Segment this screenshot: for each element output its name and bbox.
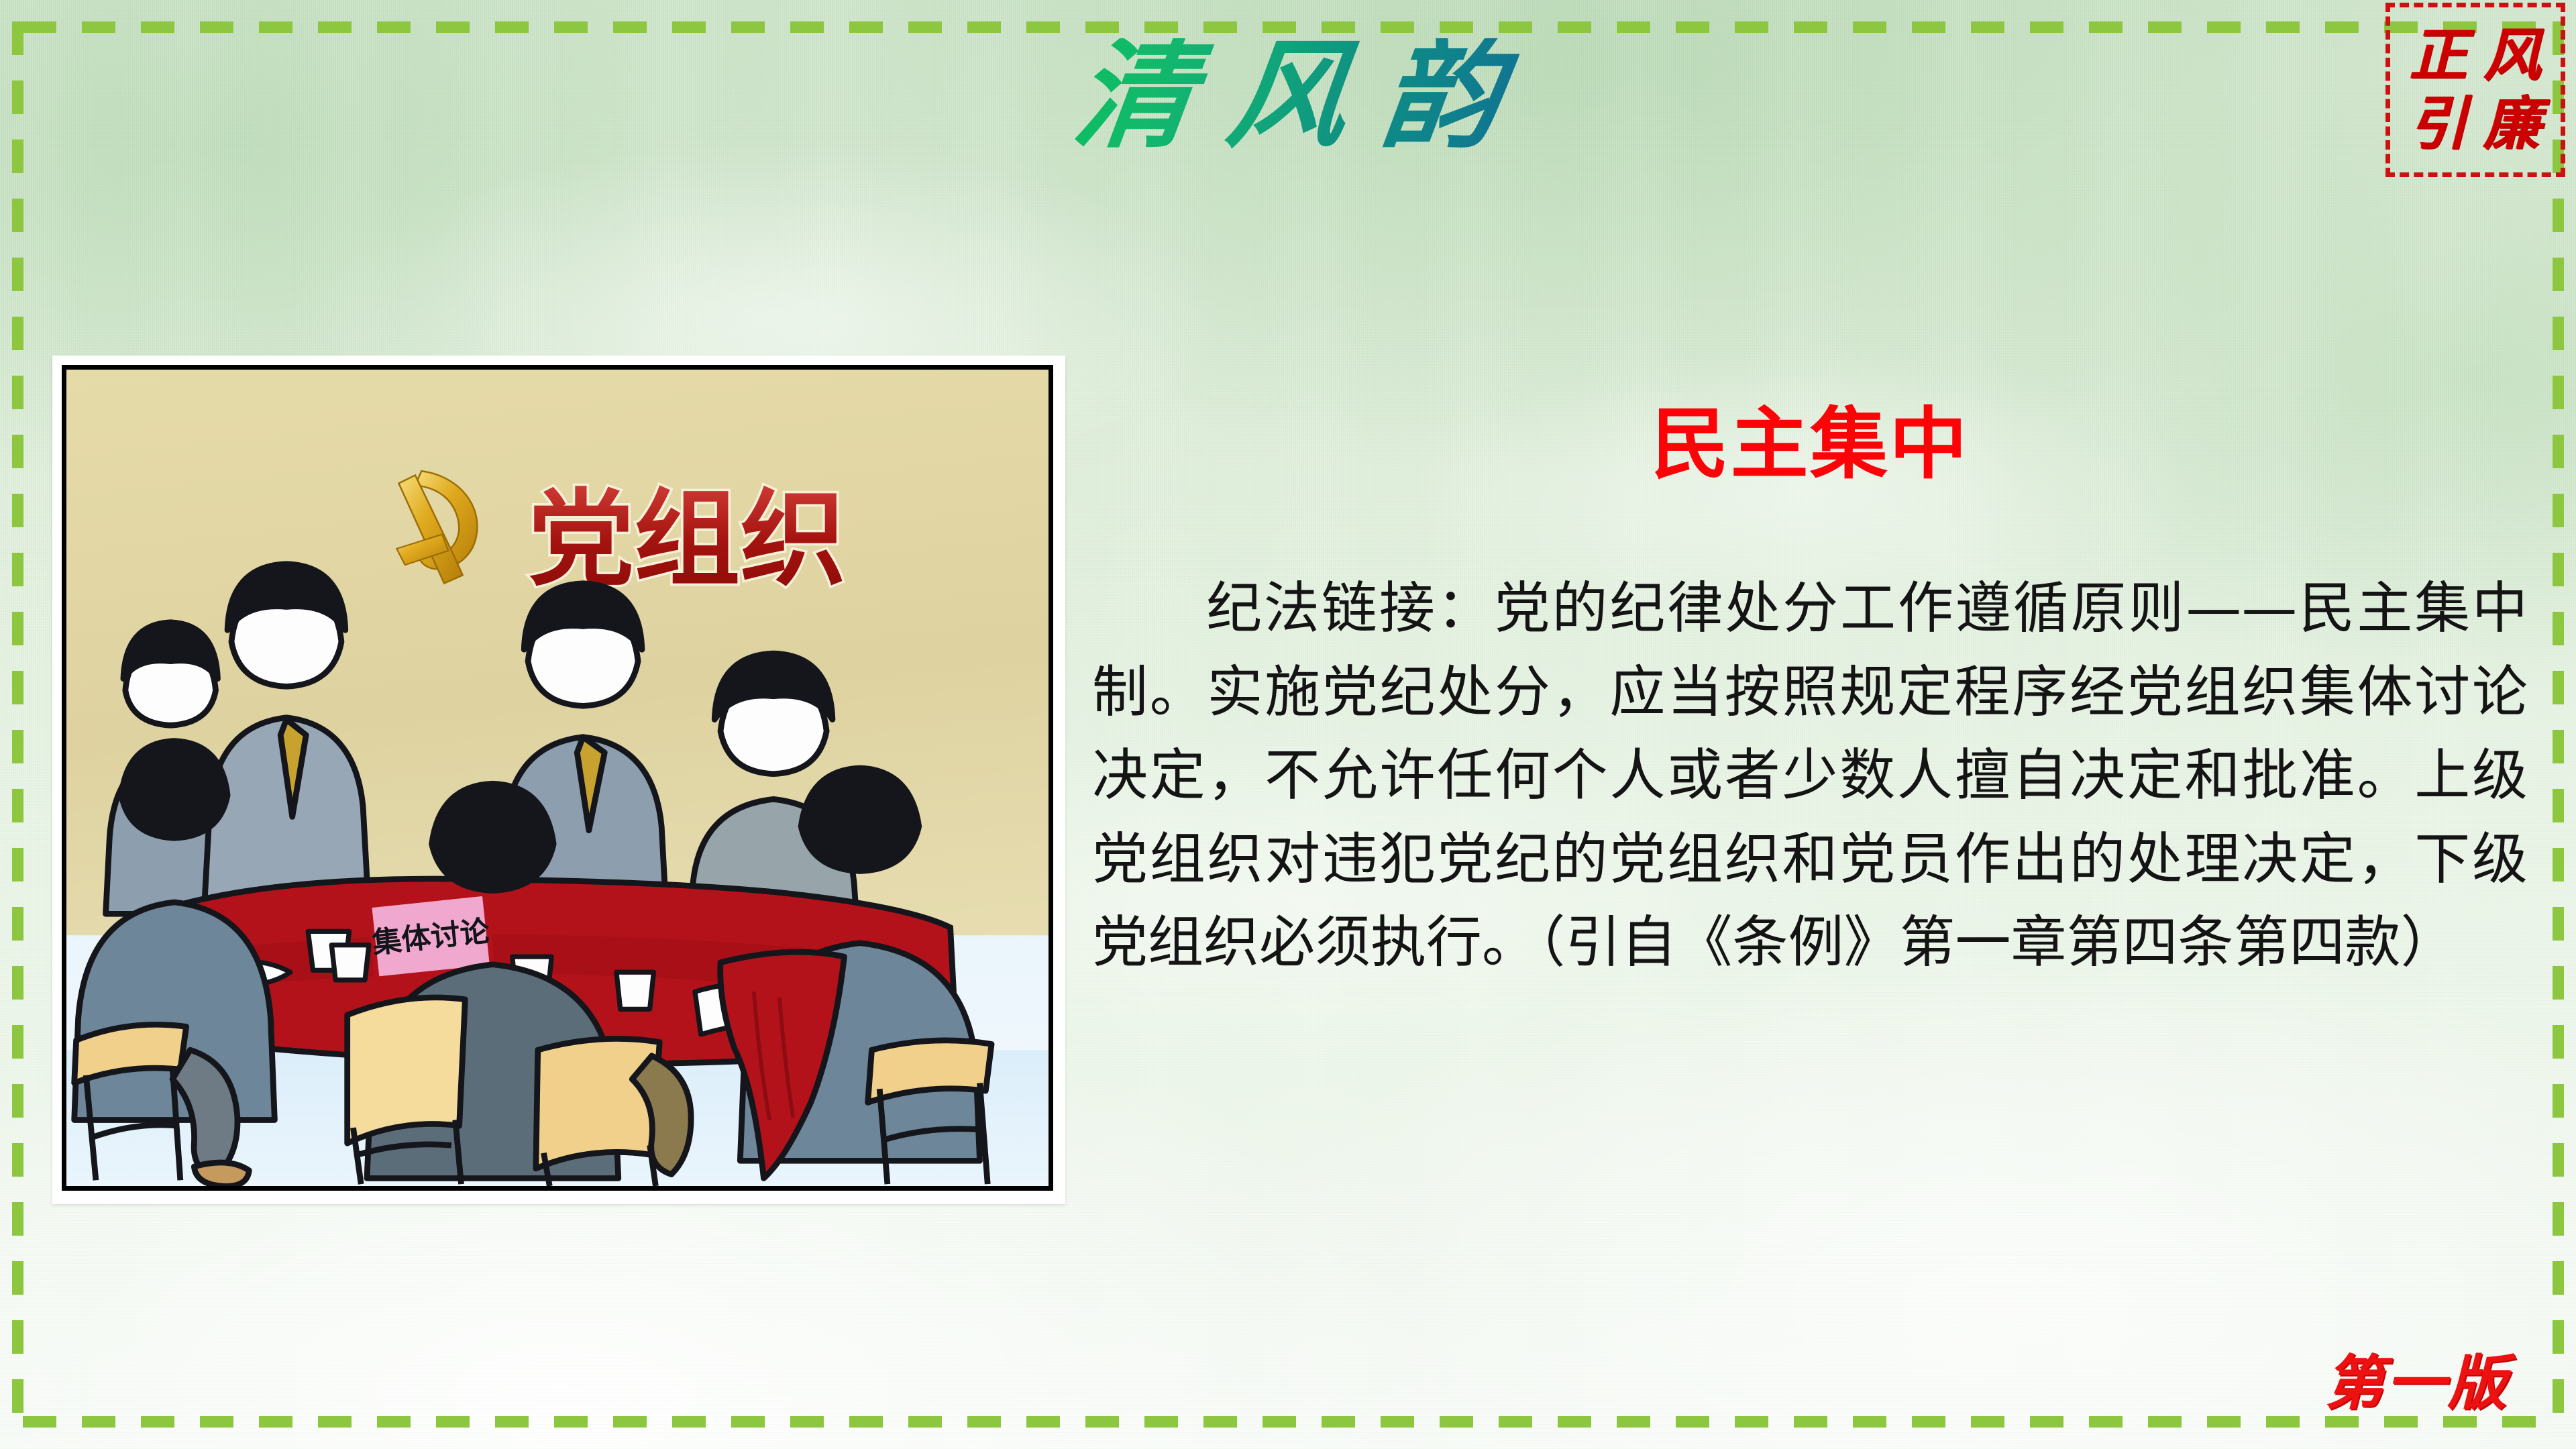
frame-border-top <box>23 21 2553 33</box>
illustration-meeting-cartoon: 党组织 <box>62 365 1053 1191</box>
article-body: 纪法链接：党的纪律处分工作遵循原则——民主集中制。实施党纪处分，应当按照规定程序… <box>1092 567 2528 985</box>
frame-border-left <box>12 21 23 1428</box>
stamp-badge-zhengfeng-yinlian: 正 风 引 廉 <box>2385 3 2565 177</box>
article-column: 民主集中 纪法链接：党的纪律处分工作遵循原则——民主集中制。实施党纪处分，应当按… <box>1092 402 2528 985</box>
frame-border-bottom <box>23 1416 2553 1428</box>
stamp-char-2: 风 <box>2483 27 2541 85</box>
stamp-char-1: 正 <box>2410 27 2467 85</box>
illustration-frame: 党组织 <box>52 356 1065 1204</box>
stamp-character-grid: 正 风 引 廉 <box>2405 23 2546 157</box>
section-heading: 民主集中 <box>1092 402 2528 486</box>
frame-border-right <box>2553 21 2564 1428</box>
illustration-svg: 党组织 <box>66 370 1049 1186</box>
page-number-label: 第一版 <box>2324 1336 2509 1421</box>
stamp-char-3: 引 <box>2410 95 2467 153</box>
stamp-char-4: 廉 <box>2483 95 2541 153</box>
